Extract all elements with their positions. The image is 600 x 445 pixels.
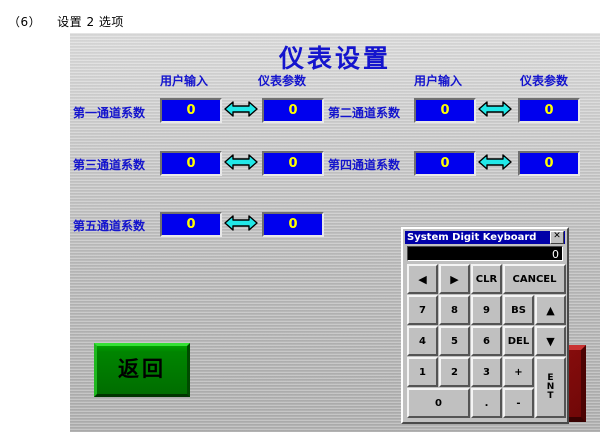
- double-arrow-icon: [224, 213, 258, 233]
- key-down[interactable]: ▼: [535, 326, 566, 356]
- field-channel-1-meter-param[interactable]: 0: [262, 98, 324, 123]
- key-left[interactable]: ◀: [407, 264, 438, 294]
- key-7[interactable]: 7: [407, 295, 438, 325]
- key-cancel[interactable]: CANCEL: [503, 264, 566, 294]
- keyboard-titlebar[interactable]: System Digit Keyboard ✕: [405, 231, 565, 244]
- row-label-channel-1: 第一通道系数: [73, 104, 145, 121]
- return-button[interactable]: 返回: [94, 343, 190, 397]
- row-label-channel-3: 第三通道系数: [73, 156, 145, 173]
- key-up[interactable]: ▲: [535, 295, 566, 325]
- hmi-panel: 仪表设置 用户输入 仪表参数 用户输入 仪表参数 第一通道系数 0 0 第二通道…: [70, 33, 600, 432]
- field-channel-3-user-input[interactable]: 0: [160, 151, 222, 176]
- field-channel-2-user-input[interactable]: 0: [414, 98, 476, 123]
- double-arrow-icon: [478, 152, 512, 172]
- field-channel-5-meter-param[interactable]: 0: [262, 212, 324, 237]
- caption-number: （6）: [8, 15, 41, 29]
- col-header-meter-param-left: 仪表参数: [258, 72, 306, 89]
- key-dot[interactable]: .: [471, 388, 502, 418]
- key-clr[interactable]: CLR: [471, 264, 502, 294]
- col-header-meter-param-right: 仪表参数: [520, 72, 568, 89]
- key-right[interactable]: ▶: [439, 264, 470, 294]
- keyboard-display: 0: [407, 246, 563, 261]
- field-channel-3-meter-param[interactable]: 0: [262, 151, 324, 176]
- key-ent[interactable]: ENT: [535, 357, 566, 418]
- row-label-channel-4: 第四通道系数: [328, 156, 400, 173]
- key-2[interactable]: 2: [439, 357, 470, 387]
- key-plus[interactable]: +: [503, 357, 534, 387]
- field-channel-1-user-input[interactable]: 0: [160, 98, 222, 123]
- key-4[interactable]: 4: [407, 326, 438, 356]
- keyboard-title: System Digit Keyboard: [405, 232, 550, 243]
- row-label-channel-5: 第五通道系数: [73, 217, 145, 234]
- key-6[interactable]: 6: [471, 326, 502, 356]
- field-channel-5-user-input[interactable]: 0: [160, 212, 222, 237]
- key-minus[interactable]: -: [503, 388, 534, 418]
- key-0[interactable]: 0: [407, 388, 470, 418]
- key-del[interactable]: DEL: [503, 326, 534, 356]
- double-arrow-icon: [224, 99, 258, 119]
- page-title: 仪表设置: [70, 39, 600, 75]
- system-digit-keyboard-dialog[interactable]: System Digit Keyboard ✕ 0 ◀▶CLRCANCEL789…: [401, 227, 569, 424]
- double-arrow-icon: [478, 99, 512, 119]
- col-header-user-input-right: 用户输入: [414, 72, 462, 89]
- key-3[interactable]: 3: [471, 357, 502, 387]
- field-channel-4-meter-param[interactable]: 0: [518, 151, 580, 176]
- figure-caption: （6）设置 2 选项: [8, 13, 124, 30]
- key-5[interactable]: 5: [439, 326, 470, 356]
- field-channel-2-meter-param[interactable]: 0: [518, 98, 580, 123]
- key-bs[interactable]: BS: [503, 295, 534, 325]
- field-channel-4-user-input[interactable]: 0: [414, 151, 476, 176]
- key-8[interactable]: 8: [439, 295, 470, 325]
- col-header-user-input-left: 用户输入: [160, 72, 208, 89]
- double-arrow-icon: [224, 152, 258, 172]
- key-9[interactable]: 9: [471, 295, 502, 325]
- close-icon[interactable]: ✕: [550, 231, 564, 244]
- caption-text: 设置 2 选项: [57, 15, 124, 29]
- row-label-channel-2: 第二通道系数: [328, 104, 400, 121]
- key-1[interactable]: 1: [407, 357, 438, 387]
